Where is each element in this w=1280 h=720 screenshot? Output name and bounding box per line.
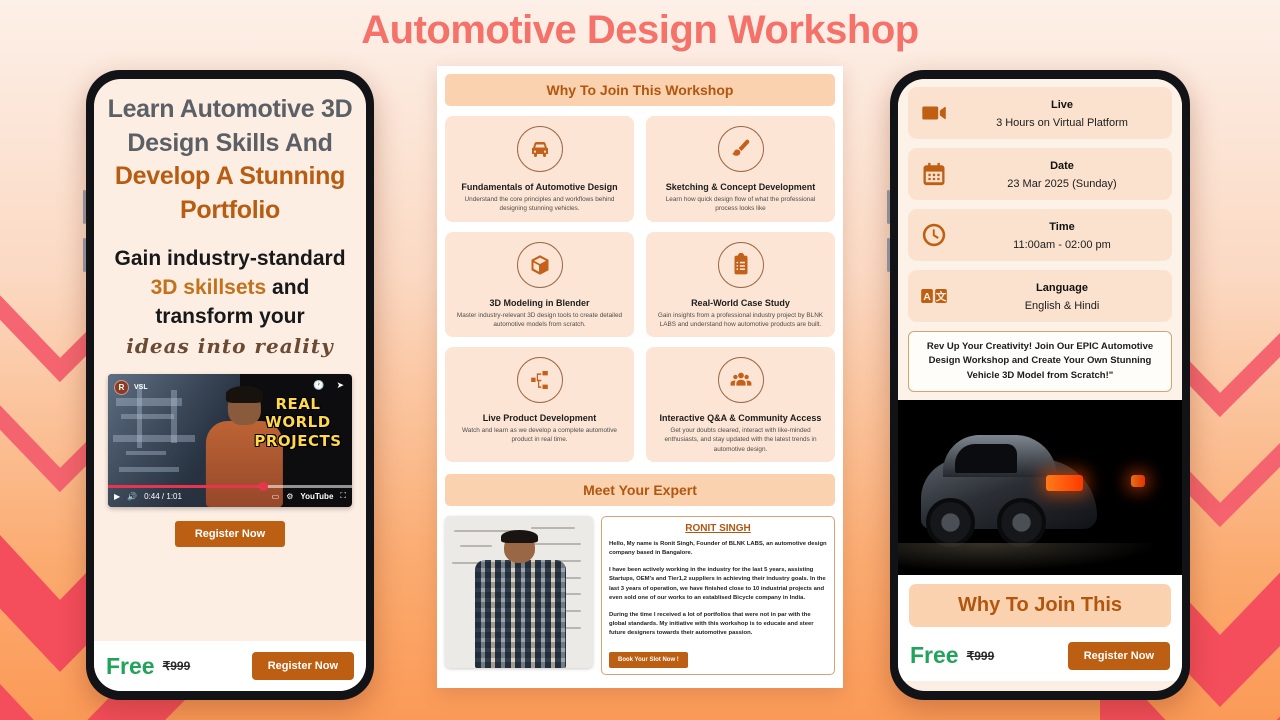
share-icon[interactable]: ➤ <box>336 380 344 391</box>
info-card-value: 23 Mar 2025 (Sunday) <box>1007 178 1116 190</box>
svg-text:文: 文 <box>935 290 947 303</box>
expert-paragraph-3: During the time I received a lot of port… <box>609 611 827 639</box>
benefit-title: Fundamentals of Automotive Design <box>461 182 617 192</box>
info-card-live: Live 3 Hours on Virtual Platform <box>908 87 1172 139</box>
video-overlay-line-1: REAL <box>248 395 348 413</box>
phone-mockup-left: Learn Automotive 3D Design Skills And De… <box>86 70 374 700</box>
video-overlay-line-2: WORLD <box>248 413 348 431</box>
video-controls[interactable]: ▶ 🔊 0:44 / 1:01 ▭ ⚙ YouTube ⛶ <box>108 488 352 505</box>
benefits-grid: Fundamentals of Automotive Design Unders… <box>445 116 835 462</box>
info-card-language: A 文 Language English & Hindi <box>908 270 1172 322</box>
benefit-card[interactable]: Real-World Case Study Gain insights from… <box>646 232 835 338</box>
left-headline-line-1: Learn Automotive 3D <box>106 93 354 127</box>
register-now-inline-button-left[interactable]: Register Now <box>175 521 285 547</box>
benefit-title: Sketching & Concept Development <box>666 182 816 192</box>
channel-avatar: R <box>114 380 129 395</box>
benefit-desc: Master industry-relevant 3D design tools… <box>453 311 626 330</box>
why-to-join-band-right: Why To Join This <box>909 584 1171 627</box>
phone-mockup-right: Live 3 Hours on Virtual Platform Date 23… <box>890 70 1190 700</box>
info-card-label: Time <box>1049 221 1074 233</box>
left-phone-bottom-bar: Free ₹999 Register Now <box>94 641 366 691</box>
benefit-title: 3D Modeling in Blender <box>489 298 589 308</box>
left-headline-line-3: Develop A Stunning <box>106 160 354 194</box>
expert-name: RONIT SINGH <box>609 523 827 534</box>
info-card-value: 11:00am - 02:00 pm <box>1013 239 1111 251</box>
play-icon[interactable]: ▶ <box>114 492 120 501</box>
info-card-label: Live <box>1051 99 1073 111</box>
page-title: Automotive Design Workshop <box>0 8 1280 53</box>
info-card-text: Language English & Hindi <box>962 278 1162 314</box>
video-player[interactable]: REAL WORLD PROJECTS R VSL 🕐 ➤ <box>108 374 352 507</box>
tagline-box: Rev Up Your Creativity! Join Our EPIC Au… <box>908 331 1172 392</box>
center-panel: Why To Join This Workshop Fundamentals o… <box>437 66 843 688</box>
cube-icon <box>517 242 563 288</box>
channel-label: VSL <box>134 384 148 391</box>
video-overlay-line-3: PROJECTS <box>248 432 348 450</box>
clock-icon <box>918 221 950 249</box>
register-now-button-left[interactable]: Register Now <box>252 652 354 680</box>
left-headline-line-4: Portfolio <box>106 194 354 228</box>
benefit-title: Interactive Q&A & Community Access <box>660 413 822 423</box>
people-icon <box>718 357 764 403</box>
video-time: 0:44 / 1:01 <box>144 492 182 501</box>
book-your-slot-button[interactable]: Book Your Slot Now ! <box>609 652 688 668</box>
right-phone-bottom-bar: Free ₹999 Register Now <box>898 631 1182 681</box>
expert-photo <box>445 516 593 668</box>
left-script-line: ideas into reality <box>106 334 354 358</box>
expert-paragraph-1: Hello, My name is Ronit Singh, Founder o… <box>609 540 827 559</box>
benefit-title: Real-World Case Study <box>691 298 790 308</box>
info-card-time: Time 11:00am - 02:00 pm <box>908 209 1172 261</box>
expert-row: RONIT SINGH Hello, My name is Ronit Sing… <box>445 516 835 675</box>
paintbrush-icon <box>718 126 764 172</box>
price-original-right: ₹999 <box>967 649 995 663</box>
price-free-left: Free <box>106 653 155 680</box>
info-card-label: Date <box>1050 160 1074 172</box>
info-card-text: Date 23 Mar 2025 (Sunday) <box>962 156 1162 192</box>
clock-icon[interactable]: 🕐 <box>313 380 324 391</box>
benefit-desc: Watch and learn as we develop a complete… <box>453 426 626 445</box>
benefit-card[interactable]: Interactive Q&A & Community Access Get y… <box>646 347 835 462</box>
info-card-text: Live 3 Hours on Virtual Platform <box>962 95 1162 131</box>
price-original-left: ₹999 <box>163 659 191 673</box>
video-camera-icon <box>918 99 950 127</box>
phone-left-content: Learn Automotive 3D Design Skills And De… <box>94 79 366 641</box>
meet-your-expert-band: Meet Your Expert <box>445 474 835 506</box>
price-free-right: Free <box>910 642 959 669</box>
benefit-desc: Get your doubts cleared, interact with l… <box>654 426 827 454</box>
expert-bio-card: RONIT SINGH Hello, My name is Ronit Sing… <box>601 516 835 675</box>
svg-text:A: A <box>923 291 931 303</box>
left-sub-line-2: transform your <box>155 305 304 328</box>
youtube-brand: YouTube <box>300 492 333 501</box>
captions-icon[interactable]: ▭ <box>272 492 280 501</box>
benefit-desc: Learn how quick design flow of what the … <box>654 195 827 214</box>
video-channel-badge[interactable]: R VSL <box>114 380 148 395</box>
phone-right-screen: Live 3 Hours on Virtual Platform Date 23… <box>898 79 1182 691</box>
workflow-icon <box>517 357 563 403</box>
register-now-button-right[interactable]: Register Now <box>1068 642 1170 670</box>
video-overlay-title: REAL WORLD PROJECTS <box>248 395 348 450</box>
benefit-card[interactable]: Fundamentals of Automotive Design Unders… <box>445 116 634 222</box>
why-to-join-band: Why To Join This Workshop <box>445 74 835 106</box>
settings-icon[interactable]: ⚙ <box>286 492 293 501</box>
clipboard-list-icon <box>718 242 764 288</box>
left-sub-after: and <box>266 276 309 299</box>
info-card-date: Date 23 Mar 2025 (Sunday) <box>908 148 1172 200</box>
left-headline-line-2: Design Skills And <box>106 127 354 161</box>
benefit-desc: Gain insights from a professional indust… <box>654 311 827 330</box>
calendar-icon <box>918 160 950 188</box>
video-top-icons: 🕐 ➤ <box>313 380 344 391</box>
volume-icon[interactable]: 🔊 <box>127 492 137 501</box>
expert-paragraph-2: I have been actively working in the indu… <box>609 566 827 604</box>
benefit-title: Live Product Development <box>483 413 597 423</box>
car-icon <box>517 126 563 172</box>
car-hero-image <box>898 400 1182 575</box>
left-sub-highlight: 3D skillsets <box>151 276 267 299</box>
benefit-card[interactable]: Sketching & Concept Development Learn ho… <box>646 116 835 222</box>
info-card-value: English & Hindi <box>1025 300 1100 312</box>
left-sub-line-1: Gain industry-standard <box>114 247 345 270</box>
right-phone-info-section: Live 3 Hours on Virtual Platform Date 23… <box>898 79 1182 400</box>
benefit-card[interactable]: Live Product Development Watch and learn… <box>445 347 634 462</box>
info-card-label: Language <box>1036 282 1088 294</box>
translate-icon: A 文 <box>918 282 950 310</box>
fullscreen-icon[interactable]: ⛶ <box>340 491 346 501</box>
left-subheadline: Gain industry-standard 3D skillsets and … <box>106 245 354 332</box>
benefit-card[interactable]: 3D Modeling in Blender Master industry-r… <box>445 232 634 338</box>
info-card-value: 3 Hours on Virtual Platform <box>996 117 1128 129</box>
benefit-desc: Understand the core principles and workf… <box>453 195 626 214</box>
right-phone-band-wrap: Why To Join This <box>898 575 1182 631</box>
info-card-text: Time 11:00am - 02:00 pm <box>962 217 1162 253</box>
phone-left-screen: Learn Automotive 3D Design Skills And De… <box>94 79 366 691</box>
